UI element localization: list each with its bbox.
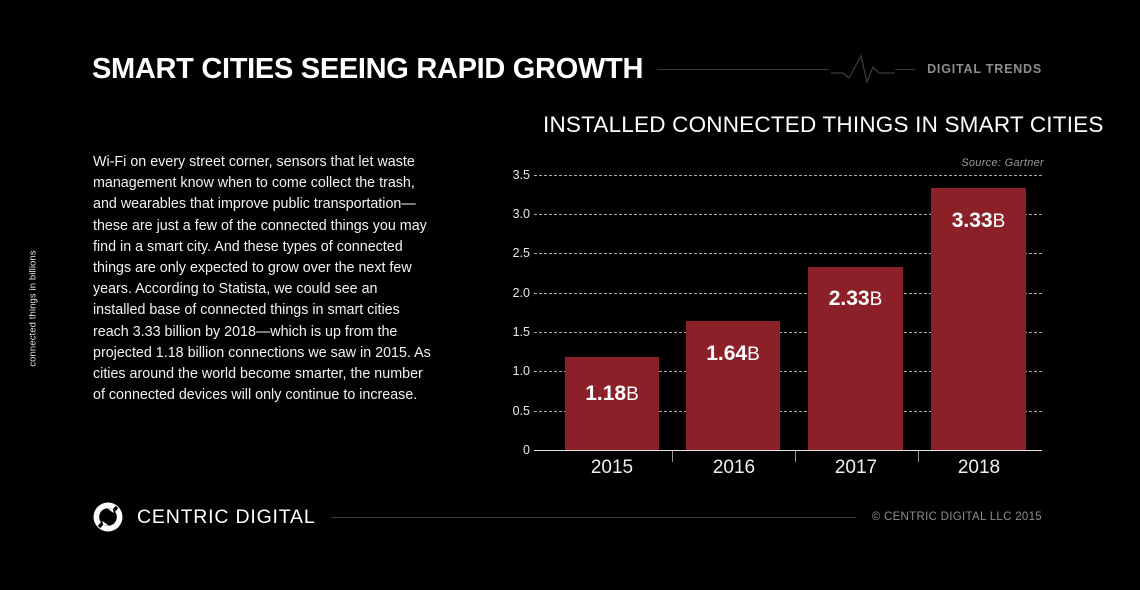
bar-2016 bbox=[686, 321, 780, 450]
y-tick-label-2-5: 2.5 bbox=[486, 247, 530, 260]
bar-value-unit-2018: B bbox=[993, 211, 1006, 232]
y-tick-label-0: 0 bbox=[486, 444, 530, 457]
x-tick-2 bbox=[795, 451, 796, 462]
centric-circle-logo-icon bbox=[92, 501, 124, 533]
x-label-2018: 2018 bbox=[927, 458, 1031, 477]
x-label-2017: 2017 bbox=[804, 458, 908, 477]
y-tick-label-0-5: 0.5 bbox=[486, 405, 530, 418]
y-tick-label-1-0: 1.0 bbox=[486, 365, 530, 378]
gridline-3-5 bbox=[534, 175, 1042, 176]
bar-value-number-2016: 1.64 bbox=[706, 342, 747, 365]
bar-value-unit-2015: B bbox=[626, 384, 639, 405]
footer-divider bbox=[331, 517, 855, 518]
bar-value-unit-2016: B bbox=[747, 344, 760, 365]
bar-value-unit-2017: B bbox=[870, 289, 883, 310]
bar-value-number-2017: 2.33 bbox=[829, 287, 870, 310]
x-label-2015: 2015 bbox=[560, 458, 664, 477]
y-tick-label-3-5: 3.5 bbox=[486, 169, 530, 182]
footer: CENTRIC DIGITAL © CENTRIC DIGITAL LLC 20… bbox=[92, 500, 1042, 534]
copyright-notice: © CENTRIC DIGITAL LLC 2015 bbox=[872, 511, 1042, 523]
bar-value-2017: 2.33B bbox=[808, 288, 903, 309]
x-axis-baseline bbox=[534, 450, 1042, 451]
infographic-page: SMART CITIES SEEING RAPID GROWTH DIGITAL… bbox=[0, 0, 1140, 590]
y-tick-label-3-0: 3.0 bbox=[486, 208, 530, 221]
bar-value-number-2015: 1.18 bbox=[585, 382, 626, 405]
y-tick-label-2-0: 2.0 bbox=[486, 287, 530, 300]
y-axis-title: connected things in billions bbox=[28, 229, 39, 389]
x-tick-3 bbox=[918, 451, 919, 462]
y-tick-label-1-5: 1.5 bbox=[486, 326, 530, 339]
x-tick-1 bbox=[672, 451, 673, 462]
x-label-2016: 2016 bbox=[682, 458, 786, 477]
logo-wordmark: CENTRIC DIGITAL bbox=[137, 506, 315, 529]
bar-value-number-2018: 3.33 bbox=[952, 209, 993, 232]
bar-value-2016: 1.64B bbox=[686, 343, 780, 364]
bar-value-2018: 3.33B bbox=[931, 210, 1026, 231]
bar-value-2015: 1.18B bbox=[565, 383, 659, 404]
